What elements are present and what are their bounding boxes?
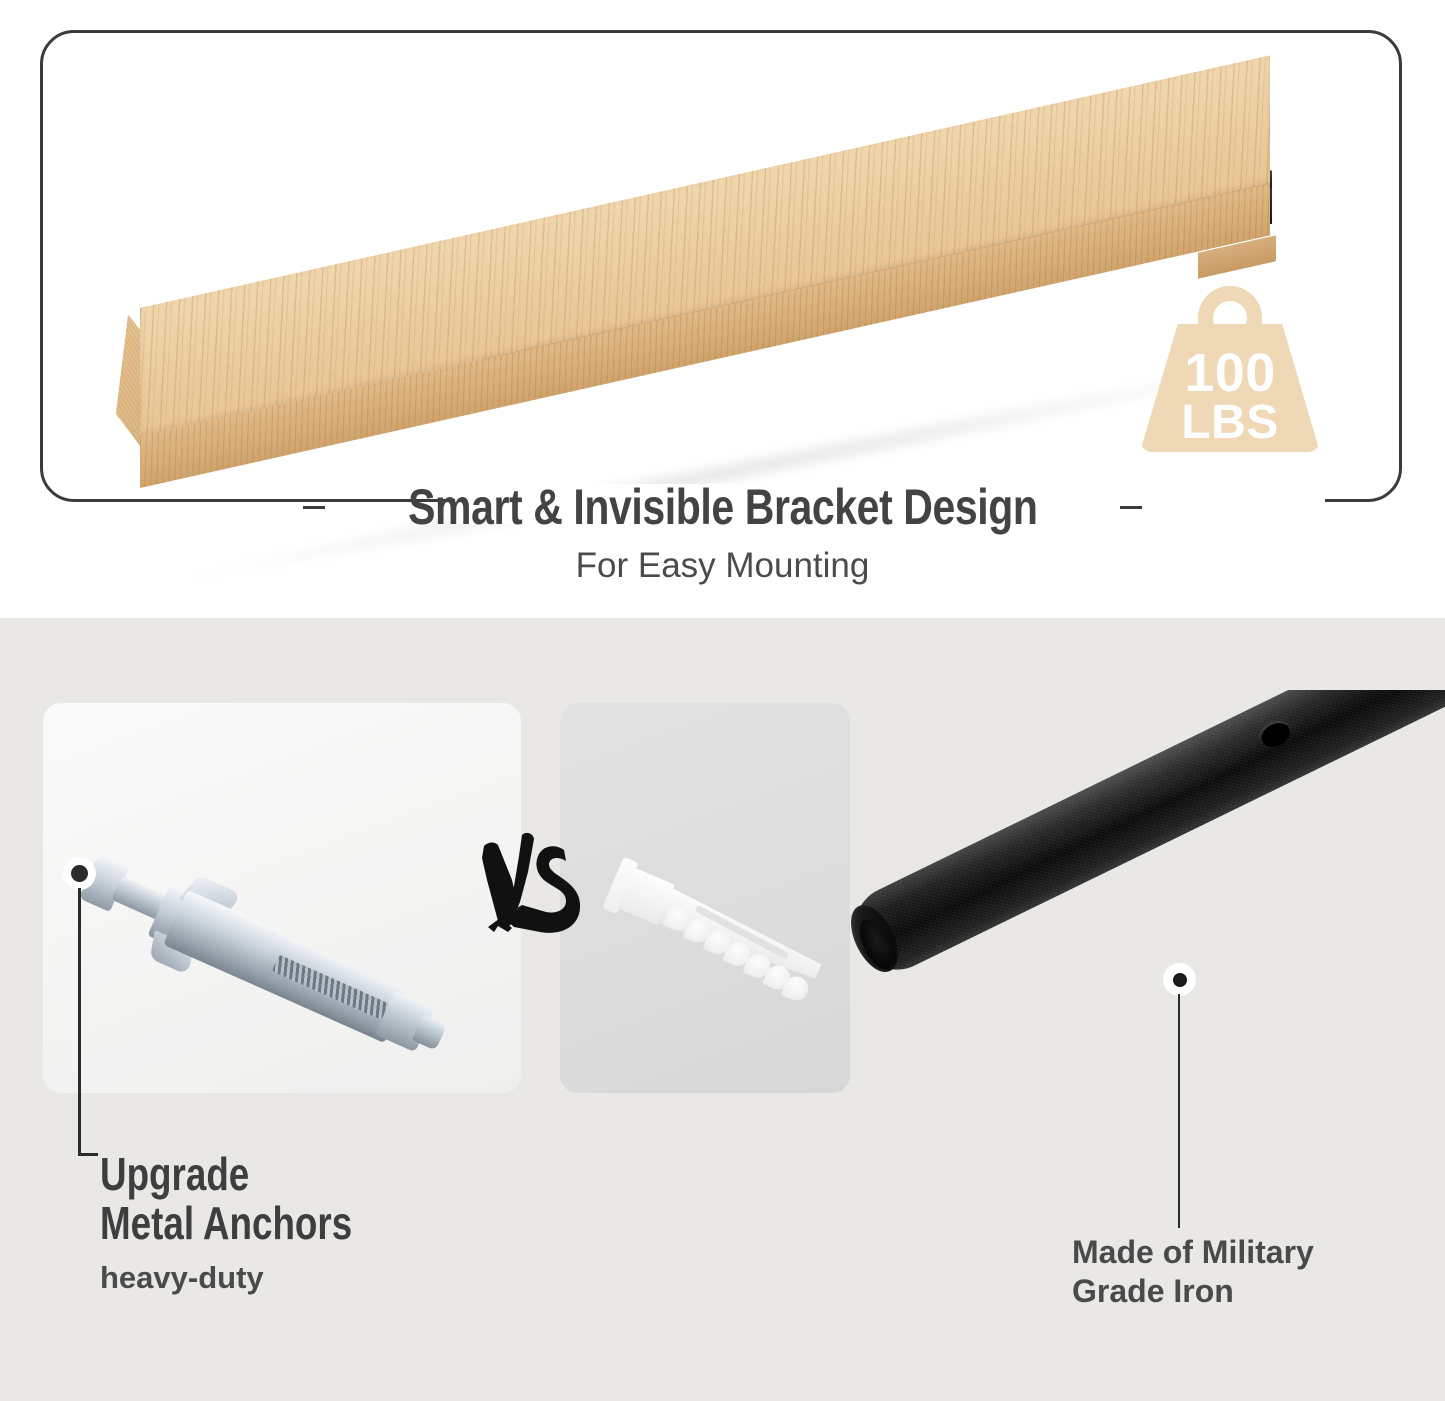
upgrade-subtitle: heavy-duty	[100, 1260, 620, 1296]
iron-pipe	[845, 690, 1445, 984]
metal-expansion-anchor-illustration	[43, 820, 461, 1093]
pipe-surface-texture	[845, 690, 1445, 984]
metal-anchor-photo-panel	[43, 703, 521, 1093]
top-section: 100 LBS Smart & Invisible Bracket Design…	[0, 0, 1445, 618]
iron-heading-line2: Grade Iron	[1072, 1272, 1412, 1311]
callout-dot-marker-icon	[63, 857, 96, 890]
plastic-anchor-photo-panel	[560, 703, 850, 1093]
iron-callout-text: Made of Military Grade Iron	[1072, 1233, 1412, 1311]
weight-badge-text: 100 LBS	[1140, 348, 1320, 446]
iron-heading-line1: Made of Military	[1072, 1233, 1412, 1272]
callout-leader-elbow-left	[78, 1153, 98, 1156]
page-subtitle: For Easy Mounting	[0, 546, 1445, 586]
weight-badge-unit: LBS	[1140, 400, 1320, 446]
page-title: Smart & Invisible Bracket Design	[408, 478, 1037, 536]
product-infographic: 100 LBS Smart & Invisible Bracket Design…	[0, 0, 1445, 1401]
callout-leader-line-left	[78, 888, 81, 1156]
upgrade-heading-line2: Metal Anchors	[100, 1199, 516, 1248]
iron-pipe-photo	[845, 690, 1445, 1110]
headline-row: Smart & Invisible Bracket Design	[0, 476, 1445, 538]
headline-tick-right	[1120, 506, 1142, 509]
upgrade-heading-line1: Upgrade	[100, 1150, 516, 1199]
callout-ring-marker-icon	[1163, 963, 1196, 996]
headline-tick-left	[303, 506, 325, 509]
plastic-wall-anchor-illustration	[583, 844, 842, 1044]
weight-badge-number: 100	[1140, 348, 1320, 400]
callout-leader-line-right	[1178, 994, 1180, 1228]
wood-shelf-illustration	[110, 8, 1320, 468]
versus-icon	[478, 828, 598, 954]
plastic-anchor-barbs	[658, 901, 822, 999]
upgrade-callout-text: Upgrade Metal Anchors heavy-duty	[100, 1150, 620, 1296]
weight-capacity-badge: 100 LBS	[1140, 286, 1320, 452]
